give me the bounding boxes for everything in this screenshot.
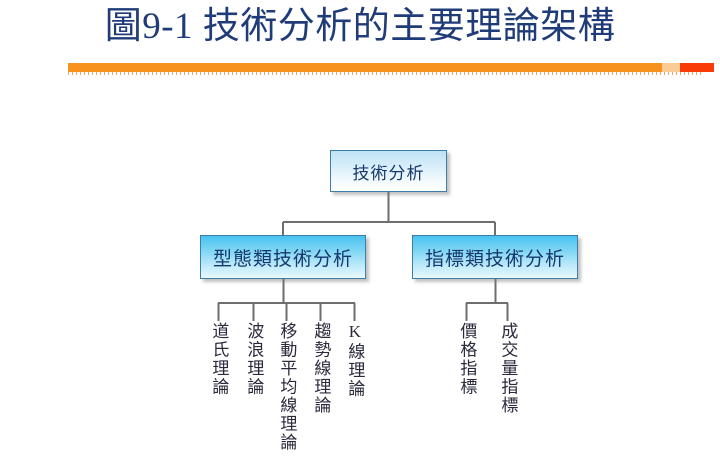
node-branch-pattern[interactable]: 型態類技術分析 [200,235,366,279]
node-branch-indicator[interactable]: 指標類技術分析 [412,235,578,279]
leaf-price-indicator: 價格指標 [458,322,475,396]
node-root-label: 技術分析 [353,159,425,184]
leaf-dow-theory: 道氏理論 [210,322,227,396]
leaf-k-line-theory: K線理論 [346,322,363,398]
leaf-moving-average-theory: 移動平均線理論 [278,322,295,452]
leaf-trendline-theory: 趨勢線理論 [312,322,329,415]
node-root-technical-analysis[interactable]: 技術分析 [330,150,447,192]
node-branch-pattern-label: 型態類技術分析 [213,244,353,271]
technical-analysis-tree-diagram: 技術分析 型態類技術分析 指標類技術分析 道氏理論 波浪理論 移動平均線理論 趨… [0,0,720,472]
node-branch-indicator-label: 指標類技術分析 [425,244,565,271]
leaf-volume-indicator: 成交量指標 [499,322,516,415]
leaf-wave-theory: 波浪理論 [245,322,262,396]
